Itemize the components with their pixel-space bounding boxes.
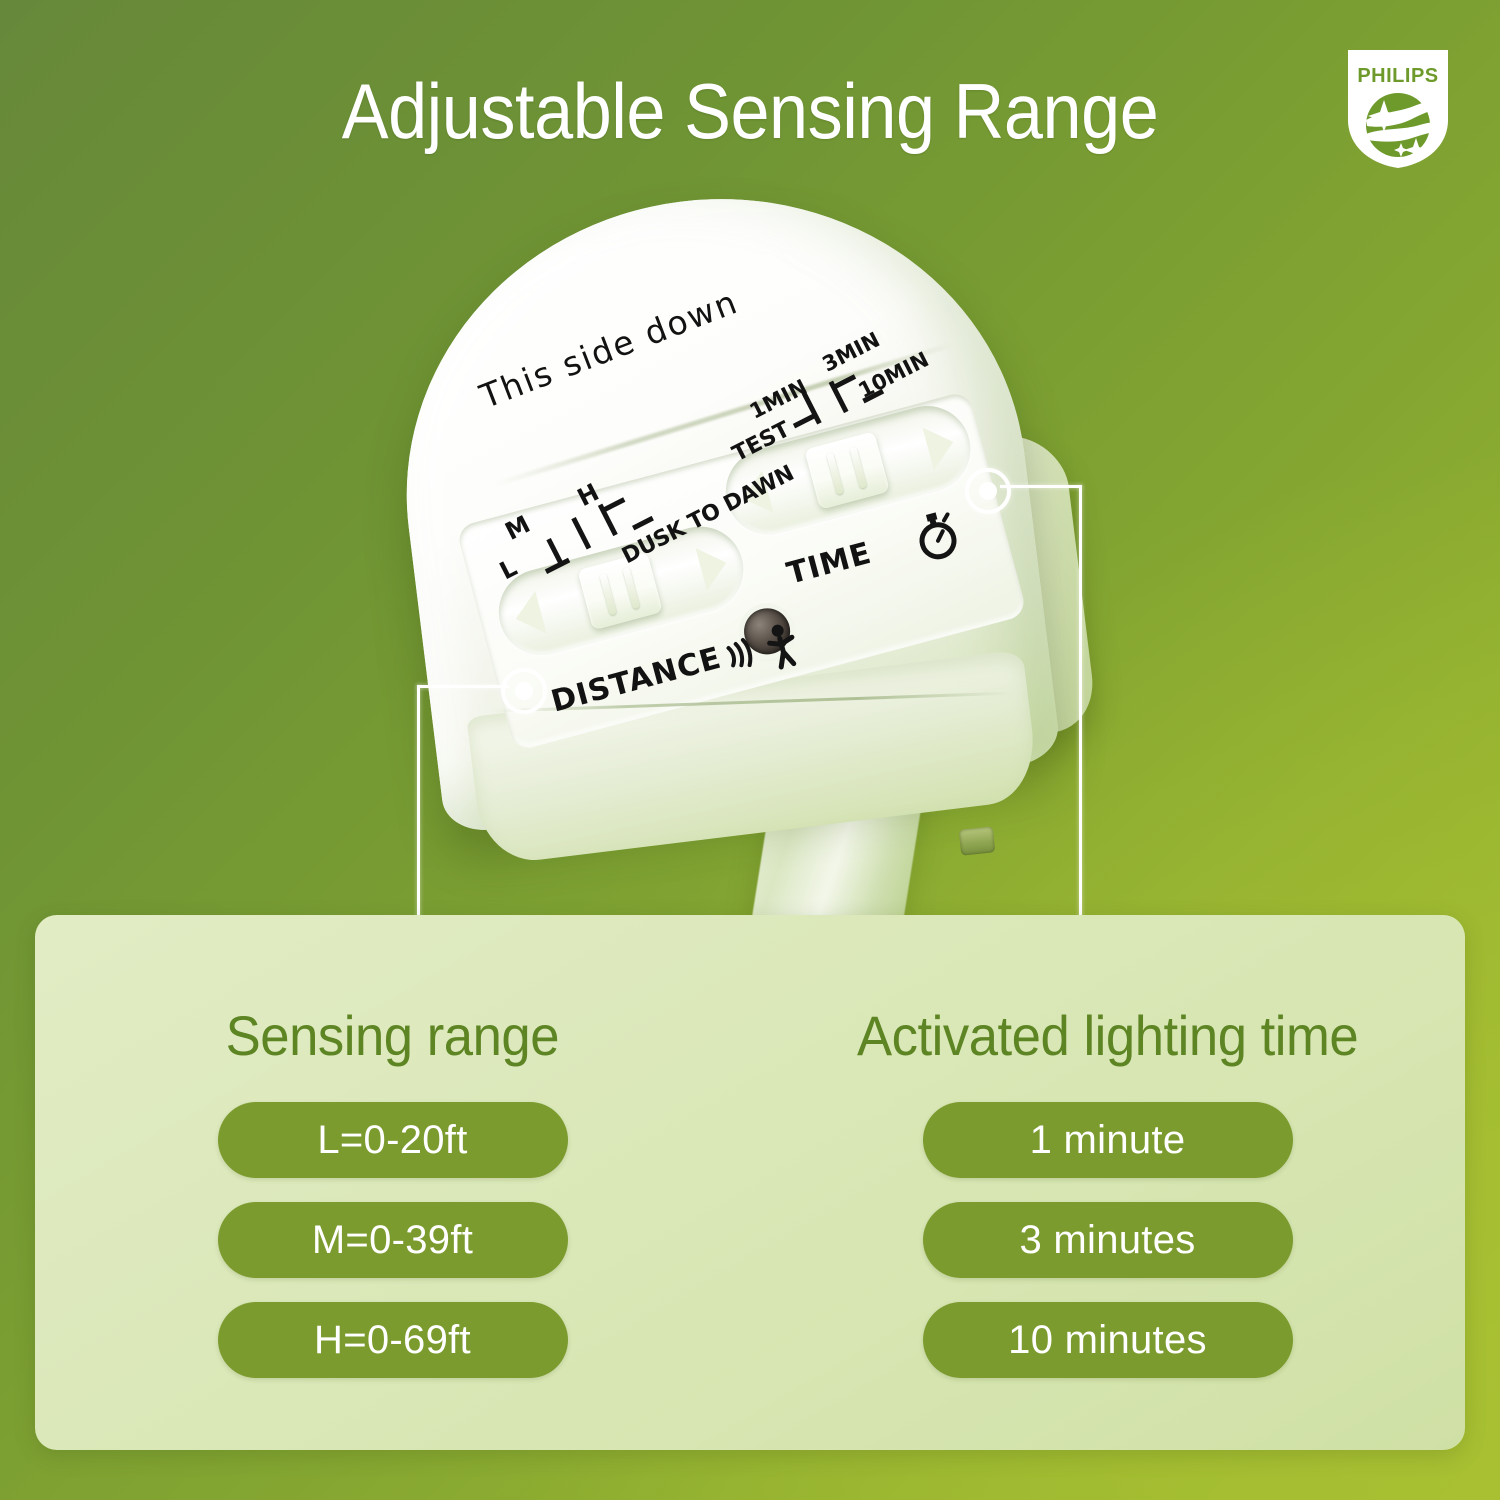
sensing-range-heading: Sensing range [226, 1003, 559, 1068]
distance-right-arrow-icon [696, 541, 733, 590]
distance-left-arrow-icon [510, 591, 547, 640]
callout-line-h-right [1000, 485, 1082, 488]
adjustment-screw [959, 826, 996, 855]
callout-line-v-right [1079, 485, 1082, 970]
page-title: Adjustable Sensing Range [75, 72, 1425, 150]
time-right-arrow-icon [923, 421, 960, 470]
callout-dot-distance-device [501, 668, 547, 714]
callout-line-h-left [417, 685, 509, 688]
spec-panel: Sensing range L=0-20ft M=0-39ft H=0-69ft… [35, 915, 1465, 1450]
knob-rib [849, 446, 867, 488]
time-slider-knob[interactable] [804, 431, 890, 510]
sensor-head: This side down [373, 161, 1086, 874]
philips-shield-logo: PHILIPS [1344, 46, 1452, 172]
lighting-time-column: Activated lighting time 1 minute 3 minut… [750, 915, 1465, 1450]
sensing-range-option-l[interactable]: L=0-20ft [218, 1102, 568, 1178]
lighting-time-heading: Activated lighting time [857, 1003, 1358, 1068]
philips-wordmark: PHILIPS [1357, 65, 1438, 87]
sensing-range-option-h[interactable]: H=0-69ft [218, 1302, 568, 1378]
sensor-device-image: This side down [390, 180, 1150, 940]
lighting-time-option-1min[interactable]: 1 minute [923, 1102, 1293, 1178]
sensing-range-option-m[interactable]: M=0-39ft [218, 1202, 568, 1278]
distance-slider-knob[interactable] [577, 552, 663, 631]
lighting-time-option-10min[interactable]: 10 minutes [923, 1302, 1293, 1378]
knob-rib [599, 573, 617, 615]
knob-rib [622, 567, 640, 609]
knob-rib [826, 453, 844, 495]
lighting-time-option-3min[interactable]: 3 minutes [923, 1202, 1293, 1278]
infographic-canvas: Adjustable Sensing Range PHILIPS This si… [0, 0, 1500, 1500]
callout-dot-time-device [965, 468, 1011, 514]
sensing-range-column: Sensing range L=0-20ft M=0-39ft H=0-69ft [35, 915, 750, 1450]
